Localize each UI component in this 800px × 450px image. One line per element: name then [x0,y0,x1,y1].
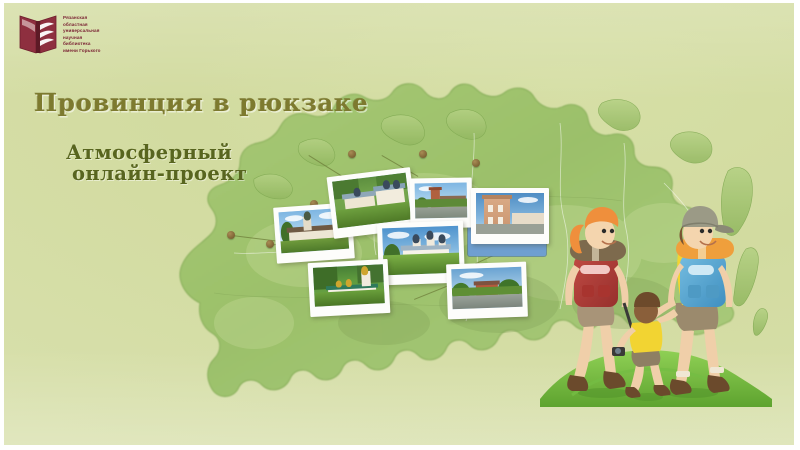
photo-roof [482,195,512,199]
photo-image [313,264,385,307]
photo-road [415,207,467,219]
photo-dome-gold [361,266,368,275]
map-pin-marker[interactable] [227,231,235,239]
photo-dome [303,211,311,220]
page-title: Провинция в рюкзаке [34,88,368,117]
photo-dome [392,179,400,189]
photo-dome [426,231,433,240]
library-logo-text: Рязанская областная универсальная научна… [63,12,101,54]
photo-window [498,217,503,224]
map-pin-marker[interactable] [348,150,356,158]
photo-tower [429,187,442,190]
photo-window [488,217,493,224]
page-subtitle-line2: онлайн-проект [72,163,247,184]
photo-dome [412,234,419,243]
photo-dome [382,180,390,190]
photo-dome-gold [336,280,342,287]
photo-dome-gold [346,279,352,287]
photo-dome [353,187,361,197]
photo-window [488,205,493,212]
page-subtitle: Атмосферный онлайн-проект [66,142,247,185]
map-pin-marker[interactable] [266,240,274,248]
photo-gold-domed-church[interactable] [308,259,391,317]
library-logo[interactable]: Рязанская областная универсальная научна… [18,12,101,55]
page-subtitle-line1: Атмосферный [66,141,232,164]
photo-road [452,294,522,309]
photo-ground [314,289,385,307]
photo-window [498,205,503,212]
photo-image [451,267,522,309]
slide-canvas: Провинция в рюкзаке Атмосферный онлайн-п… [4,3,794,445]
photo-riverside-estate[interactable] [446,262,528,320]
map-pin-marker[interactable] [472,159,480,167]
photo-image [415,183,468,219]
photo-dome [438,234,445,243]
poster-root: Провинция в рюкзаке Атмосферный онлайн-п… [0,0,800,450]
photo-ground [415,199,467,208]
map-pin-marker[interactable] [419,150,427,158]
photo-image [332,173,411,229]
open-book-icon [18,12,58,55]
hiking-family-illustration [532,199,780,411]
